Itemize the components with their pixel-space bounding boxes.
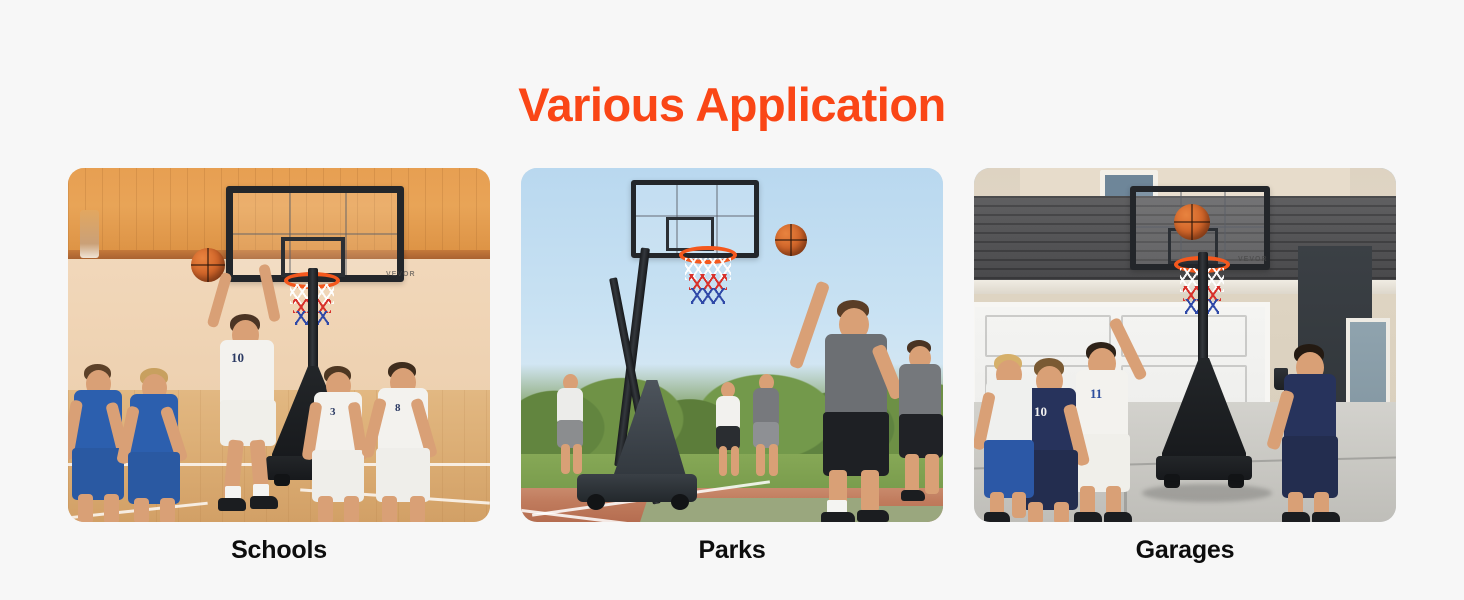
player-shoe [250, 496, 278, 509]
player-jersey-number: 8 [395, 402, 401, 414]
player-shorts [72, 448, 124, 500]
player-jersey-number: 11 [1090, 386, 1102, 402]
player-leg [318, 496, 333, 522]
photo-garages: VEVOR [974, 168, 1396, 522]
player-leg [731, 446, 739, 476]
brand-logo-text: VEVOR [1238, 256, 1268, 263]
application-card-schools[interactable]: VEVOR [68, 168, 490, 565]
hoop-wheel [587, 494, 605, 510]
hoop-wheel [274, 474, 290, 486]
player-shorts [220, 400, 276, 446]
player-shoe [1282, 512, 1310, 522]
player-shorts [128, 452, 180, 504]
hoop-wheel [671, 494, 689, 510]
player-shoe [218, 498, 246, 511]
backboard-mullion [233, 233, 397, 235]
application-card-row: VEVOR [68, 168, 1396, 565]
player-leg [344, 496, 359, 522]
player-shirt [557, 388, 583, 424]
player-jersey [1076, 370, 1128, 442]
basketball [1174, 204, 1210, 240]
player-shoe [1312, 512, 1340, 522]
player-shorts [312, 450, 364, 502]
player-leg [561, 444, 570, 474]
card-caption-parks: Parks [698, 536, 765, 565]
player-leg [719, 446, 727, 476]
player-shoe [984, 512, 1010, 522]
player-shorts [899, 414, 943, 458]
player-jersey [1284, 374, 1336, 444]
player-leg [1054, 502, 1069, 522]
various-application-banner: Various Application V [0, 0, 1464, 600]
application-card-parks[interactable]: Parks [521, 168, 943, 565]
hoop-shadow [1142, 484, 1272, 502]
application-card-garages[interactable]: VEVOR [974, 168, 1396, 565]
player-shorts [984, 440, 1034, 498]
player-shoe [821, 512, 855, 522]
player-leg [1012, 492, 1026, 518]
brand-logo-text: VEVOR [386, 271, 416, 278]
player-jersey-number: 10 [231, 350, 244, 366]
player-leg [410, 496, 425, 522]
player-leg [1028, 502, 1043, 522]
player-leg [769, 444, 778, 476]
player-shorts [823, 412, 889, 476]
player-shoe [857, 510, 889, 522]
player-shorts [1282, 436, 1338, 498]
player-leg [134, 498, 149, 522]
player-leg [925, 454, 939, 494]
player-shoe [1104, 512, 1132, 522]
player-leg [756, 444, 765, 476]
page-title: Various Application [0, 78, 1464, 132]
player-jersey-number: 10 [1034, 404, 1047, 420]
player-leg [160, 498, 175, 522]
card-caption-schools: Schools [231, 536, 327, 565]
garage-door-panel [1121, 315, 1247, 357]
player-leg [104, 494, 119, 522]
photo-schools: VEVOR [68, 168, 490, 522]
player-leg [905, 454, 919, 494]
photo-parks [521, 168, 943, 522]
hoop-net-blue [691, 288, 725, 304]
player-leg [382, 496, 397, 522]
backboard-mullion [716, 185, 718, 253]
player-leg [573, 444, 582, 474]
player-jersey [986, 380, 1032, 446]
player-shorts [376, 448, 430, 502]
player-leg [78, 494, 93, 522]
player-shirt [899, 364, 941, 420]
player-leg [861, 470, 879, 512]
player-shirt [716, 396, 740, 430]
player-jersey-number: 3 [330, 406, 336, 418]
player-shirt [753, 388, 779, 426]
card-caption-garages: Garages [1136, 536, 1235, 565]
basketball [775, 224, 807, 256]
backboard-mullion [1224, 192, 1226, 264]
player-jersey [220, 340, 274, 406]
player-shoe [901, 490, 925, 501]
gym-wall-bracket [80, 210, 99, 258]
player-shoe [1074, 512, 1102, 522]
